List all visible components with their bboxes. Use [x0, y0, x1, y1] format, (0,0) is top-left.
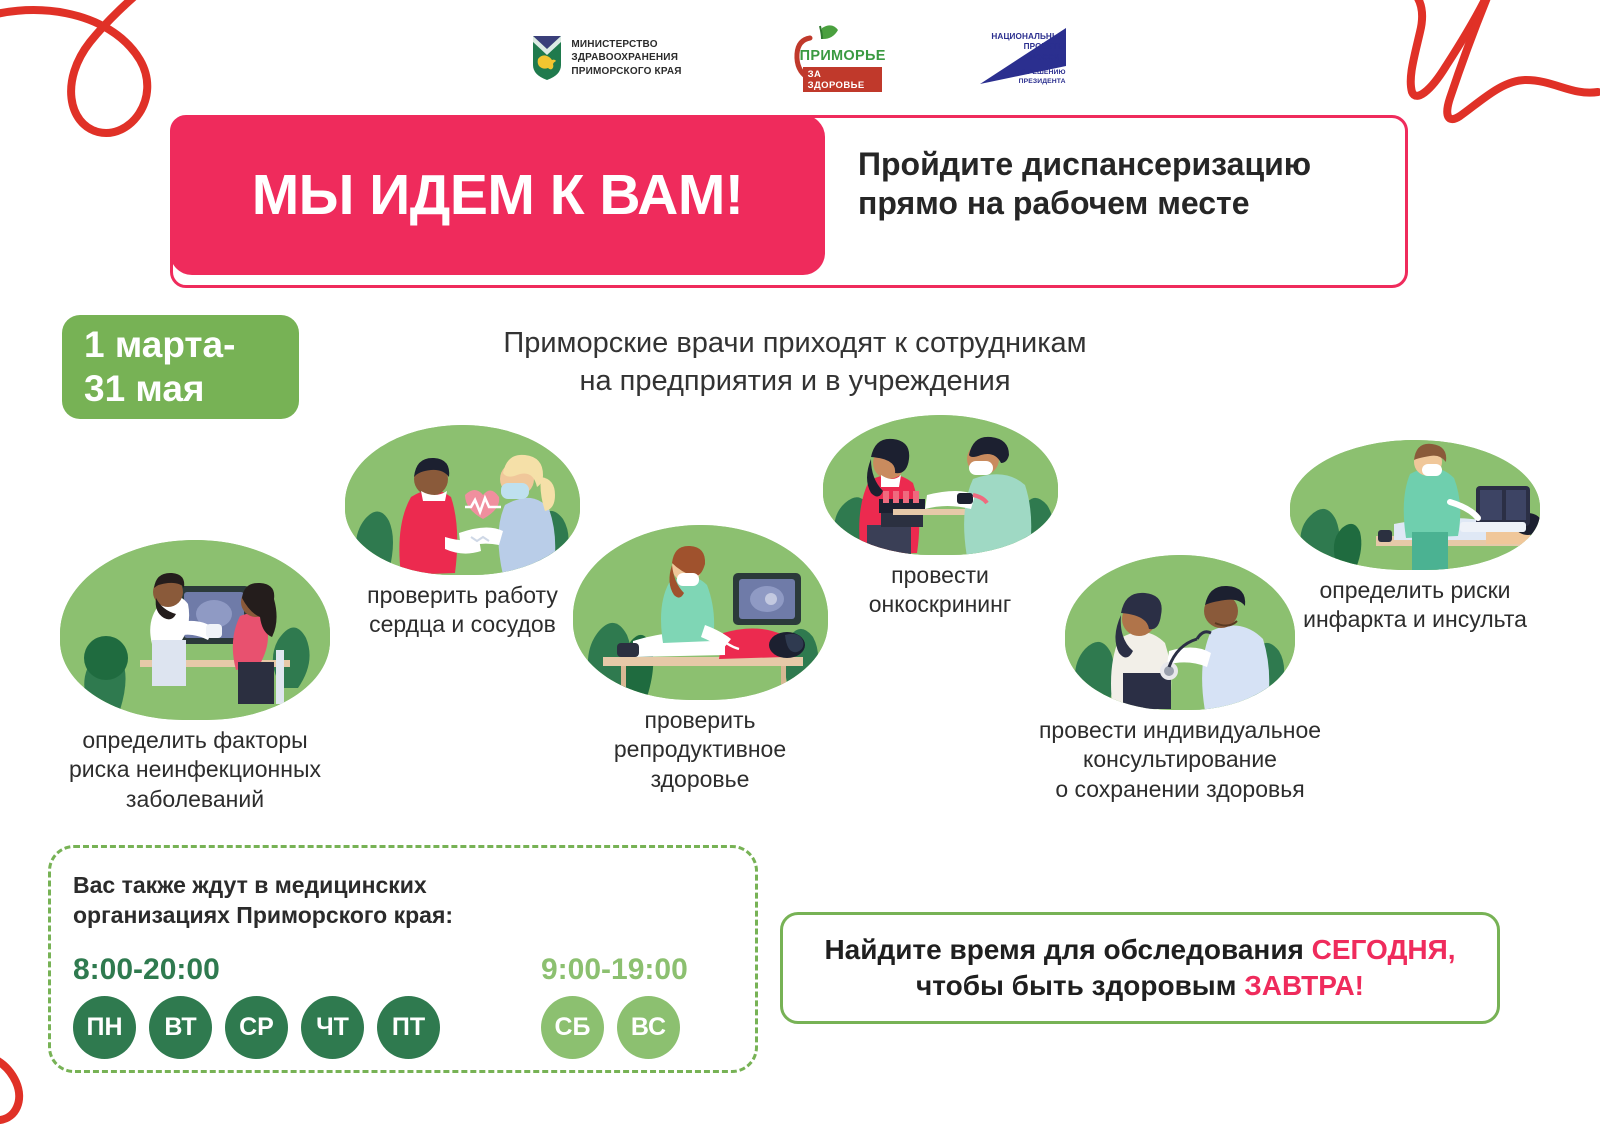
date-range-badge: 1 марта- 31 мая	[62, 315, 299, 419]
day-badge: ПТ	[377, 996, 440, 1059]
service-caption: проверить репродуктивное здоровье	[555, 706, 845, 794]
ministry-logo-text: МИНИСТЕРСТВО ЗДРАВООХРАНЕНИЯ ПРИМОРСКОГО…	[571, 38, 681, 78]
primorye-za-zdorovye-logo: ПРИМОРЬЕ ЗА ЗДОРОВЬЕ	[778, 22, 882, 94]
campaign-intro-text: Приморские врачи приходят к сотрудникам …	[410, 325, 1180, 400]
weekend-hours: 9:00-19:00	[541, 953, 688, 987]
day-badge: ПН	[73, 996, 136, 1059]
day-badge: ВС	[617, 996, 680, 1059]
headline-subtitle: Пройдите диспансеризацию прямо на рабоче…	[858, 145, 1398, 224]
headline-block: МЫ ИДЕМ К ВАМ! Пройдите диспансеризацию …	[170, 115, 1408, 288]
cta-line2-plain: чтобы быть здоровым	[916, 970, 1244, 1001]
national-projects-title: НАЦИОНАЛЬНЫЕ ПРОЕКТЫ РОССИИ	[991, 32, 1065, 63]
day-badge: СБ	[541, 996, 604, 1059]
ministry-of-health-logo: МИНИСТЕРСТВО ЗДРАВООХРАНЕНИЯ ПРИМОРСКОГО…	[532, 35, 681, 81]
headline-pill: МЫ ИДЕМ К ВАМ!	[170, 115, 825, 275]
doctor-consultation-illustration	[1065, 555, 1295, 710]
cta-line1-plain: Найдите время для обследования	[824, 934, 1311, 965]
day-badge: ЧТ	[301, 996, 364, 1059]
ecg-monitoring-illustration	[1290, 440, 1540, 570]
date-range-text: 1 марта- 31 мая	[84, 323, 299, 410]
day-badge: ВТ	[149, 996, 212, 1059]
primorye-logo-title: ПРИМОРЬЕ	[800, 48, 886, 64]
ultrasound-examination-illustration	[60, 540, 330, 720]
service-item-risk-factors: определить факторы риска неинфекционных …	[30, 540, 360, 814]
primorye-coat-of-arms-icon	[532, 35, 562, 81]
weekday-hours: 8:00-20:00	[73, 953, 220, 987]
service-caption: определить факторы риска неинфекционных …	[30, 726, 360, 814]
national-projects-logo: НАЦИОНАЛЬНЫЕ ПРОЕКТЫ РОССИИ ПО РЕШЕНИЮ П…	[978, 26, 1068, 90]
logo-row: МИНИСТЕРСТВО ЗДРАВООХРАНЕНИЯ ПРИМОРСКОГО…	[0, 22, 1600, 94]
cta-line2-highlight: ЗАВТРА!	[1244, 970, 1364, 1001]
headline-main-text: МЫ ИДЕМ К ВАМ!	[252, 162, 744, 228]
cta-line1-highlight: СЕГОДНЯ,	[1312, 934, 1456, 965]
service-item-heart-attack-stroke-risks: определить риски инфаркта и инсульта	[1270, 440, 1560, 635]
primorye-logo-subtitle: ЗА ЗДОРОВЬЕ	[803, 67, 882, 92]
blood-pressure-check-illustration	[345, 425, 580, 575]
call-to-action-text: Найдите время для обследования СЕГОДНЯ, …	[824, 932, 1455, 1005]
weekend-badges: СБ ВС	[541, 996, 680, 1059]
blood-sampling-illustration	[823, 415, 1058, 555]
day-badge: СР	[225, 996, 288, 1059]
call-to-action-box: Найдите время для обследования СЕГОДНЯ, …	[780, 912, 1500, 1024]
schedule-panel: Вас также ждут в медицинских организация…	[48, 845, 758, 1073]
service-caption: определить риски инфаркта и инсульта	[1270, 576, 1560, 635]
schedule-title: Вас также ждут в медицинских организация…	[73, 870, 543, 931]
ultrasound-scan-illustration	[573, 525, 828, 700]
national-projects-subtitle: ПО РЕШЕНИЮ ПРЕЗИДЕНТА	[1015, 69, 1065, 86]
service-caption: провести индивидуальное консультирование…	[1020, 716, 1340, 804]
poster-root: МИНИСТЕРСТВО ЗДРАВООХРАНЕНИЯ ПРИМОРСКОГО…	[0, 0, 1600, 1131]
weekday-badges: ПН ВТ СР ЧТ ПТ	[73, 996, 440, 1059]
service-item-reproductive-health: проверить репродуктивное здоровье	[555, 525, 845, 794]
